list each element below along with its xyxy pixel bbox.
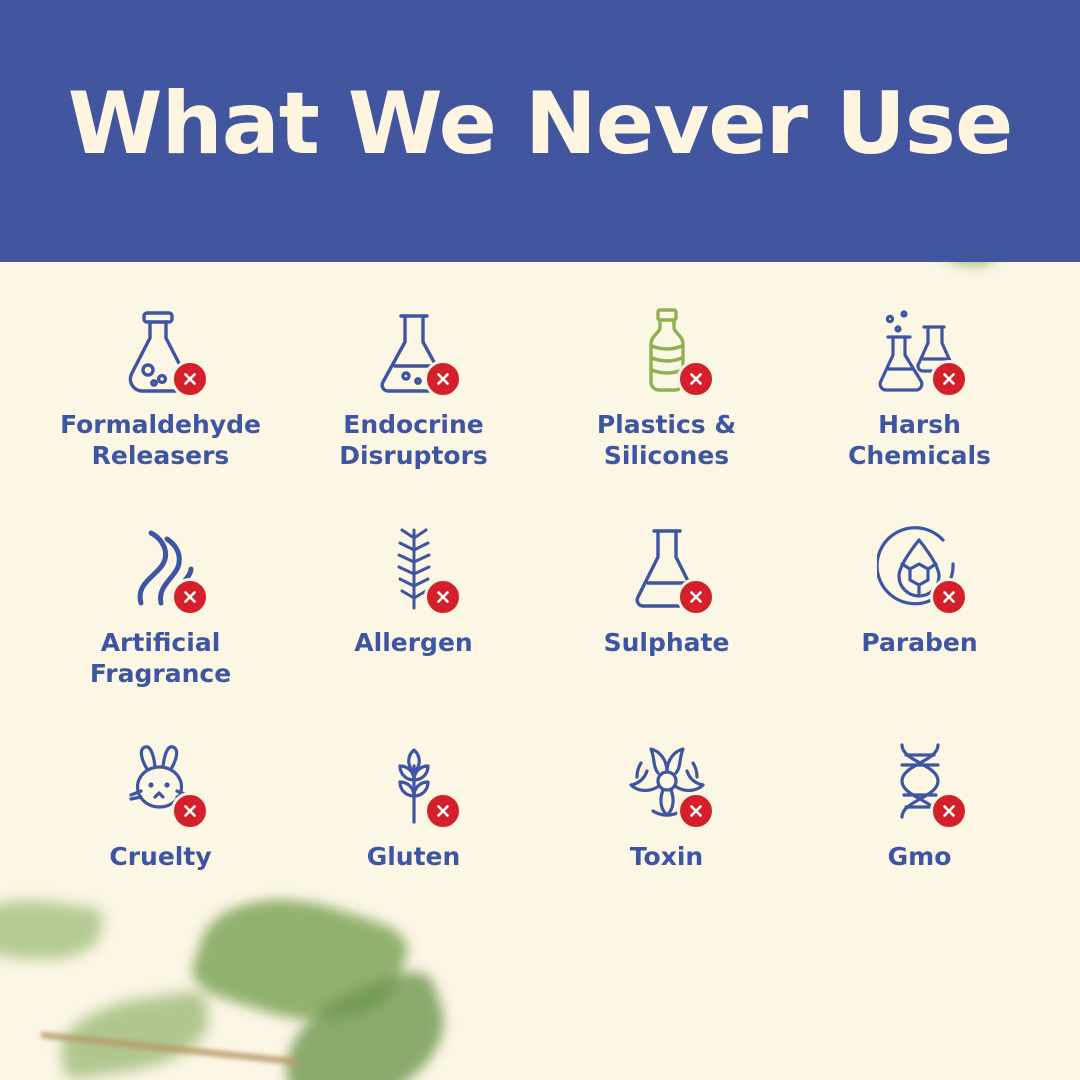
round-flask-icon — [615, 518, 719, 618]
x-mark-icon — [424, 360, 462, 398]
grid-item-label: Paraben — [861, 628, 977, 659]
grid-item-gmo: Gmo — [793, 732, 1046, 946]
never-use-grid: Formaldehyde Releasers Endocrine Disrupt… — [0, 262, 1080, 946]
grid-item-label: Cruelty — [109, 842, 211, 873]
x-mark-icon — [424, 578, 462, 616]
x-mark-icon — [171, 792, 209, 830]
grid-item-plastics-silicones: Plastics & Silicones — [540, 304, 793, 518]
page-title: What We Never Use — [68, 81, 1013, 181]
x-mark-icon — [930, 792, 968, 830]
grid-item-label: Sulphate — [604, 628, 730, 659]
grid-item-harsh-chemicals: Harsh Chemicals — [793, 304, 1046, 518]
grid-item-label: Allergen — [354, 628, 472, 659]
fragrance-swirl-icon — [109, 518, 213, 618]
x-mark-icon — [677, 578, 715, 616]
flask-bubbles-icon — [109, 304, 213, 400]
grid-item-label: Gmo — [888, 842, 952, 873]
grid-item-formaldehyde-releasers: Formaldehyde Releasers — [34, 304, 287, 518]
wheat-grain-icon — [362, 732, 466, 832]
x-mark-icon — [424, 792, 462, 830]
x-mark-icon — [171, 578, 209, 616]
grid-item-sulphate: Sulphate — [540, 518, 793, 732]
plastic-bottle-icon — [615, 304, 719, 400]
x-mark-icon — [677, 360, 715, 398]
grid-item-label: Artificial Fragrance — [90, 628, 231, 689]
poster: What We Never Use — [0, 0, 1080, 1080]
grid-item-paraben: Paraben — [793, 518, 1046, 732]
grid-item-label: Toxin — [630, 842, 703, 873]
x-mark-icon — [171, 360, 209, 398]
grid-item-label: Harsh Chemicals — [848, 410, 991, 471]
wheat-stalk-icon — [362, 518, 466, 618]
dna-helix-icon — [868, 732, 972, 832]
x-mark-icon — [677, 792, 715, 830]
biohazard-icon — [615, 732, 719, 832]
grid-item-label: Formaldehyde Releasers — [60, 410, 261, 471]
rabbit-icon — [109, 732, 213, 832]
grid-item-allergen: Allergen — [287, 518, 540, 732]
x-mark-icon — [930, 360, 968, 398]
grid-item-label: Plastics & Silicones — [597, 410, 736, 471]
grid-item-label: Gluten — [367, 842, 461, 873]
x-mark-icon — [930, 578, 968, 616]
grid-item-label: Endocrine Disruptors — [339, 410, 488, 471]
grid-item-cruelty: Cruelty — [34, 732, 287, 946]
chemical-flasks-icon — [868, 304, 972, 400]
grid-item-toxin: Toxin — [540, 732, 793, 946]
droplet-molecule-icon — [868, 518, 972, 618]
grid-item-artificial-fragrance: Artificial Fragrance — [34, 518, 287, 732]
header-banner: What We Never Use — [0, 0, 1080, 262]
grid-item-endocrine-disruptors: Endocrine Disruptors — [287, 304, 540, 518]
erlenmeyer-flask-icon — [362, 304, 466, 400]
grid-item-gluten: Gluten — [287, 732, 540, 946]
